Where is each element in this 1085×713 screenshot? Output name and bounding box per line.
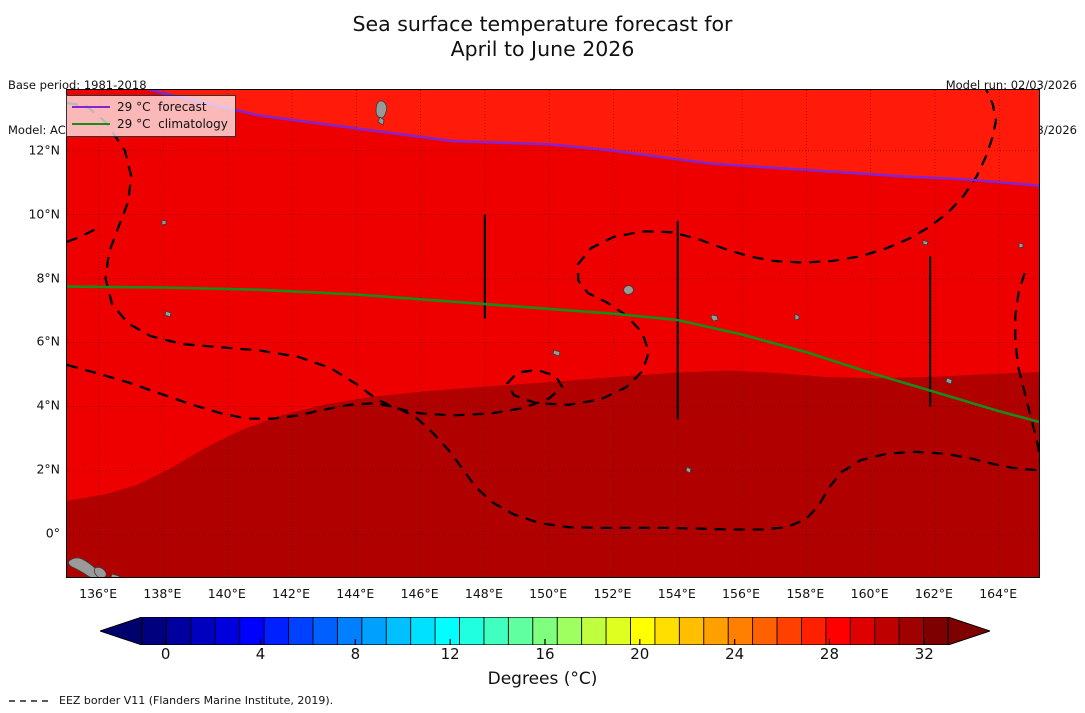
- colorbar[interactable]: [100, 617, 990, 645]
- colorbar-tick-labels: 048121620242832: [100, 645, 990, 665]
- eez-footnote-text: EEZ border V11 (Flanders Marine Institut…: [59, 694, 333, 707]
- legend-item-forecast: 29 °C forecast: [72, 100, 228, 114]
- map-plot-area[interactable]: Commonwealth of Australia 2026, Bureau o…: [66, 89, 1040, 578]
- colorbar-tick-24: 24: [725, 645, 744, 663]
- dashed-line-sample: [8, 696, 54, 706]
- y-tick-0°: 0°: [46, 526, 60, 541]
- colorbar-tick-0: 0: [161, 645, 171, 663]
- legend-label-forecast: 29 °C forecast: [117, 100, 207, 114]
- contour-legend: 29 °C forecast 29 °C climatology: [66, 95, 236, 137]
- y-tick-8°N: 8°N: [36, 270, 60, 285]
- colorbar-tick-28: 28: [820, 645, 839, 663]
- x-tick-140°E: 140°E: [208, 586, 246, 601]
- legend-item-climatology: 29 °C climatology: [72, 117, 228, 131]
- legend-line-climatology: [72, 123, 110, 125]
- x-tick-136°E: 136°E: [79, 586, 117, 601]
- x-axis-labels: 136°E138°E140°E142°E144°E146°E148°E150°E…: [66, 586, 1040, 606]
- y-tick-2°N: 2°N: [36, 462, 60, 477]
- x-tick-144°E: 144°E: [336, 586, 374, 601]
- x-tick-156°E: 156°E: [722, 586, 760, 601]
- x-tick-158°E: 158°E: [786, 586, 824, 601]
- x-tick-150°E: 150°E: [529, 586, 567, 601]
- x-tick-164°E: 164°E: [979, 586, 1017, 601]
- colorbar-axis-label: Degrees (°C): [0, 669, 1085, 689]
- colorbar-tick-8: 8: [351, 645, 361, 663]
- x-tick-148°E: 148°E: [465, 586, 503, 601]
- x-tick-142°E: 142°E: [272, 586, 310, 601]
- x-tick-152°E: 152°E: [593, 586, 631, 601]
- y-tick-6°N: 6°N: [36, 334, 60, 349]
- y-tick-12°N: 12°N: [28, 142, 60, 157]
- title-line-1: Sea surface temperature forecast for: [0, 12, 1085, 37]
- y-axis-labels: 0°2°N4°N6°N8°N10°N12°N: [0, 89, 60, 578]
- colorbar-tick-12: 12: [441, 645, 460, 663]
- x-tick-154°E: 154°E: [658, 586, 696, 601]
- map-svg: [67, 90, 1040, 578]
- colorbar-tick-32: 32: [915, 645, 934, 663]
- colorbar-tick-20: 20: [630, 645, 649, 663]
- legend-line-forecast: [72, 106, 110, 108]
- y-tick-10°N: 10°N: [28, 206, 60, 221]
- x-tick-138°E: 138°E: [143, 586, 181, 601]
- title-line-2: April to June 2026: [0, 37, 1085, 62]
- legend-label-climatology: 29 °C climatology: [117, 117, 228, 131]
- colorbar-tick-16: 16: [535, 645, 554, 663]
- x-tick-146°E: 146°E: [401, 586, 439, 601]
- x-tick-162°E: 162°E: [915, 586, 953, 601]
- page-title: Sea surface temperature forecast for Apr…: [0, 12, 1085, 62]
- colorbar-svg: [100, 617, 990, 645]
- x-tick-160°E: 160°E: [851, 586, 889, 601]
- eez-footnote: EEZ border V11 (Flanders Marine Institut…: [8, 694, 333, 707]
- colorbar-tick-4: 4: [256, 645, 266, 663]
- y-tick-4°N: 4°N: [36, 398, 60, 413]
